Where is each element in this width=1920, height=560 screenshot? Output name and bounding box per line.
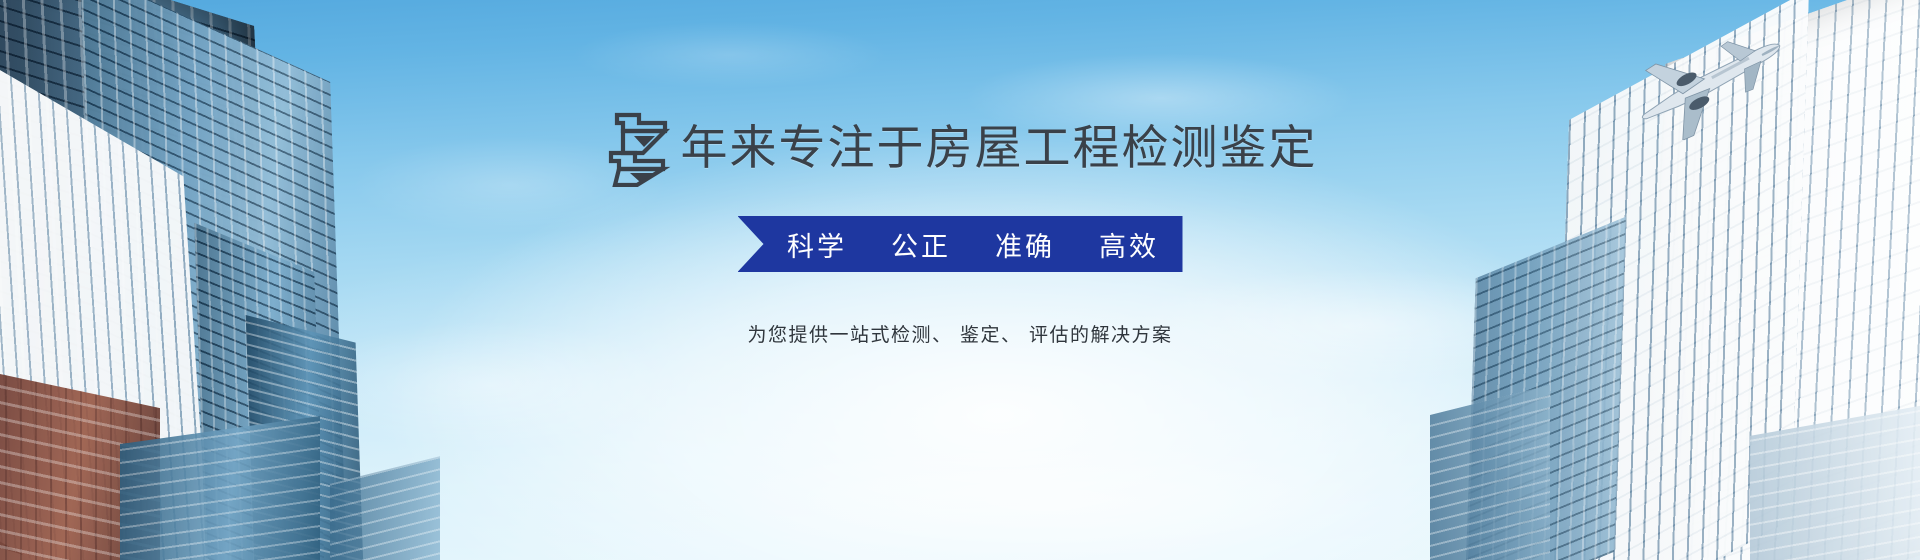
subtitle-text: 为您提供一站式检测、 鉴定、 评估的解决方案 bbox=[747, 320, 1172, 347]
slogan-item-zhunque: 准确 bbox=[995, 225, 1055, 264]
slogan-ribbon: 科学 公正 准确 高效 bbox=[738, 216, 1183, 272]
slogan-item-gaoxiao: 高效 bbox=[1099, 225, 1159, 264]
banner-content: 年来专注于房屋工程检测鉴定 科学 公正 准确 高效 为您提供一站式检测、 鉴定、… bbox=[0, 0, 1920, 560]
hero-banner: 年来专注于房屋工程检测鉴定 科学 公正 准确 高效 为您提供一站式检测、 鉴定、… bbox=[0, 0, 1920, 560]
slogan-ribbon-items: 科学 公正 准确 高效 bbox=[761, 225, 1159, 264]
slogan-item-gongzheng: 公正 bbox=[891, 225, 951, 264]
slogan-ribbon-wrap: 科学 公正 准确 高效 bbox=[738, 216, 1183, 272]
headline-text: 年来专注于房屋工程检测鉴定 bbox=[681, 125, 1318, 172]
duo-character-logo-icon bbox=[603, 109, 677, 187]
slogan-item-kexue: 科学 bbox=[787, 225, 847, 264]
headline-row: 年来专注于房屋工程检测鉴定 bbox=[603, 112, 1318, 184]
